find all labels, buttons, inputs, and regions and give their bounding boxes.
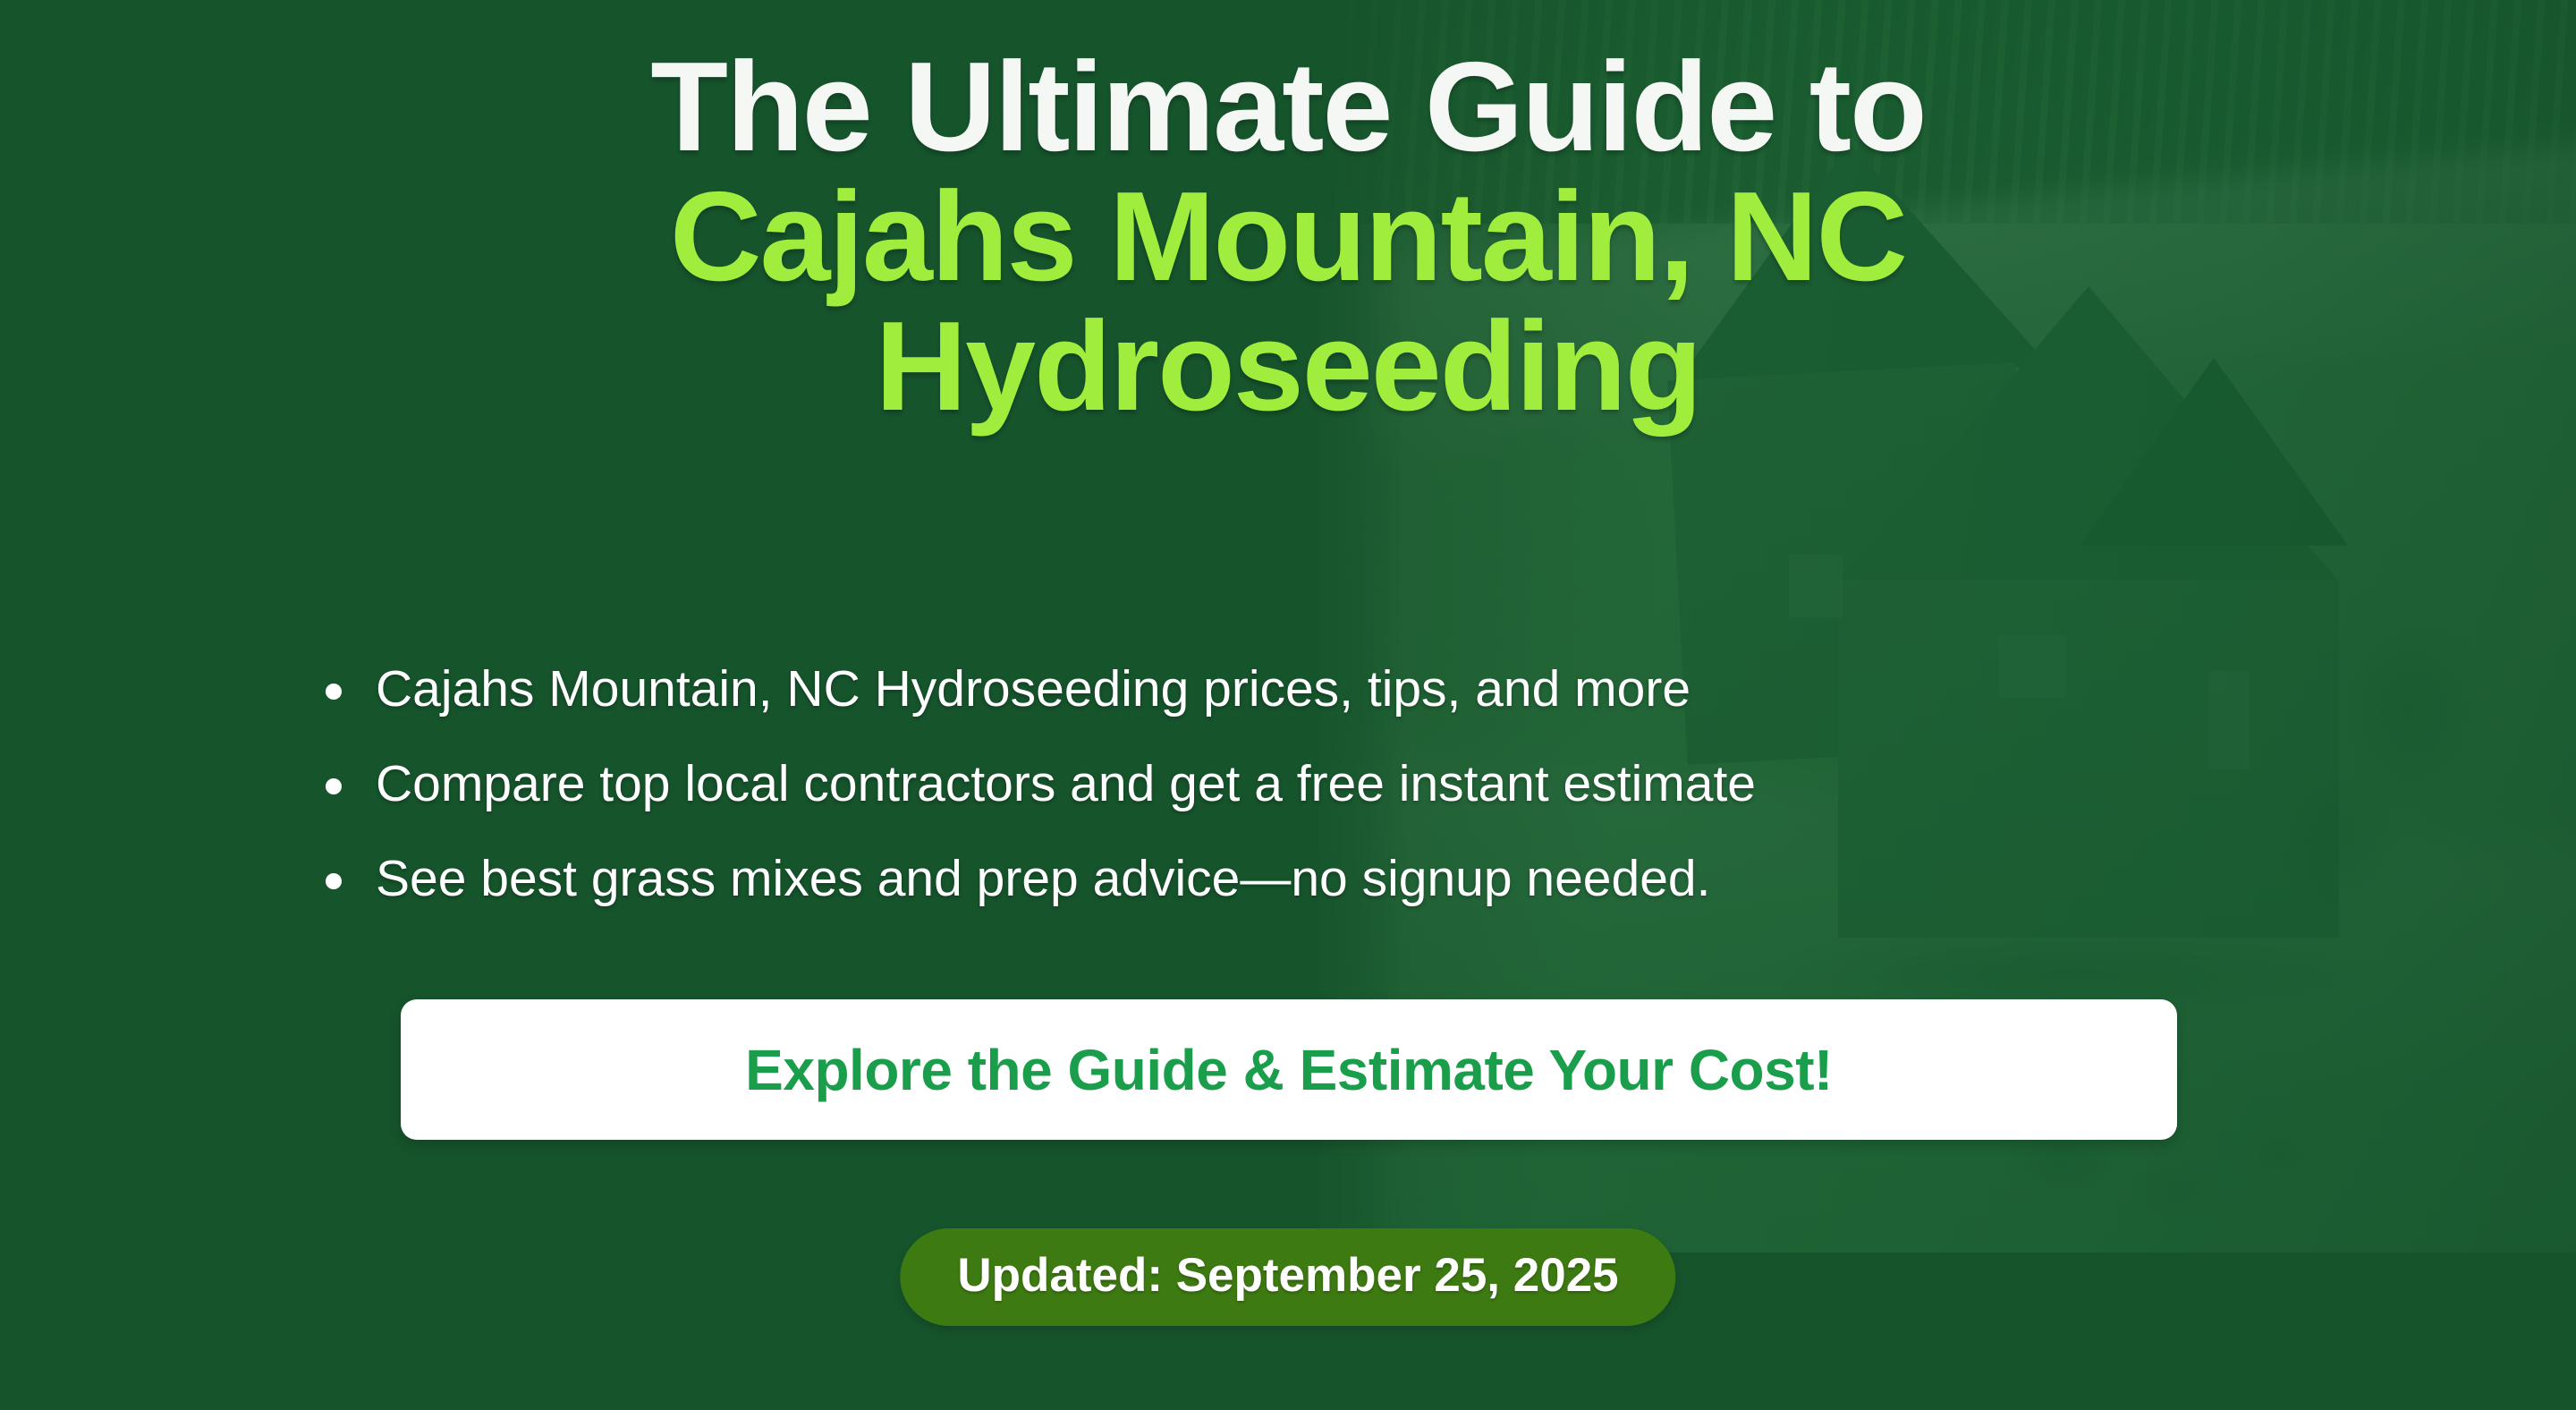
headline-line-2: Cajahs Mountain, NC xyxy=(107,173,2469,302)
headline-line-1: The Ultimate Guide to xyxy=(107,43,2469,173)
banner-content: The Ultimate Guide to Cajahs Mountain, N… xyxy=(0,0,2576,1410)
explore-guide-cta-button[interactable]: Explore the Guide & Estimate Your Cost! xyxy=(401,999,2177,1140)
page-title: The Ultimate Guide to Cajahs Mountain, N… xyxy=(0,43,2576,431)
list-item: See best grass mixes and prep advice—no … xyxy=(311,854,2368,905)
list-item: Cajahs Mountain, NC Hydroseeding prices,… xyxy=(311,664,2368,715)
updated-date-badge: Updated: September 25, 2025 xyxy=(900,1228,1675,1326)
hero-banner: The Ultimate Guide to Cajahs Mountain, N… xyxy=(0,0,2576,1410)
headline-line-3: Hydroseeding xyxy=(107,302,2469,432)
benefit-list: Cajahs Mountain, NC Hydroseeding prices,… xyxy=(311,664,2368,948)
list-item: Compare top local contractors and get a … xyxy=(311,759,2368,810)
